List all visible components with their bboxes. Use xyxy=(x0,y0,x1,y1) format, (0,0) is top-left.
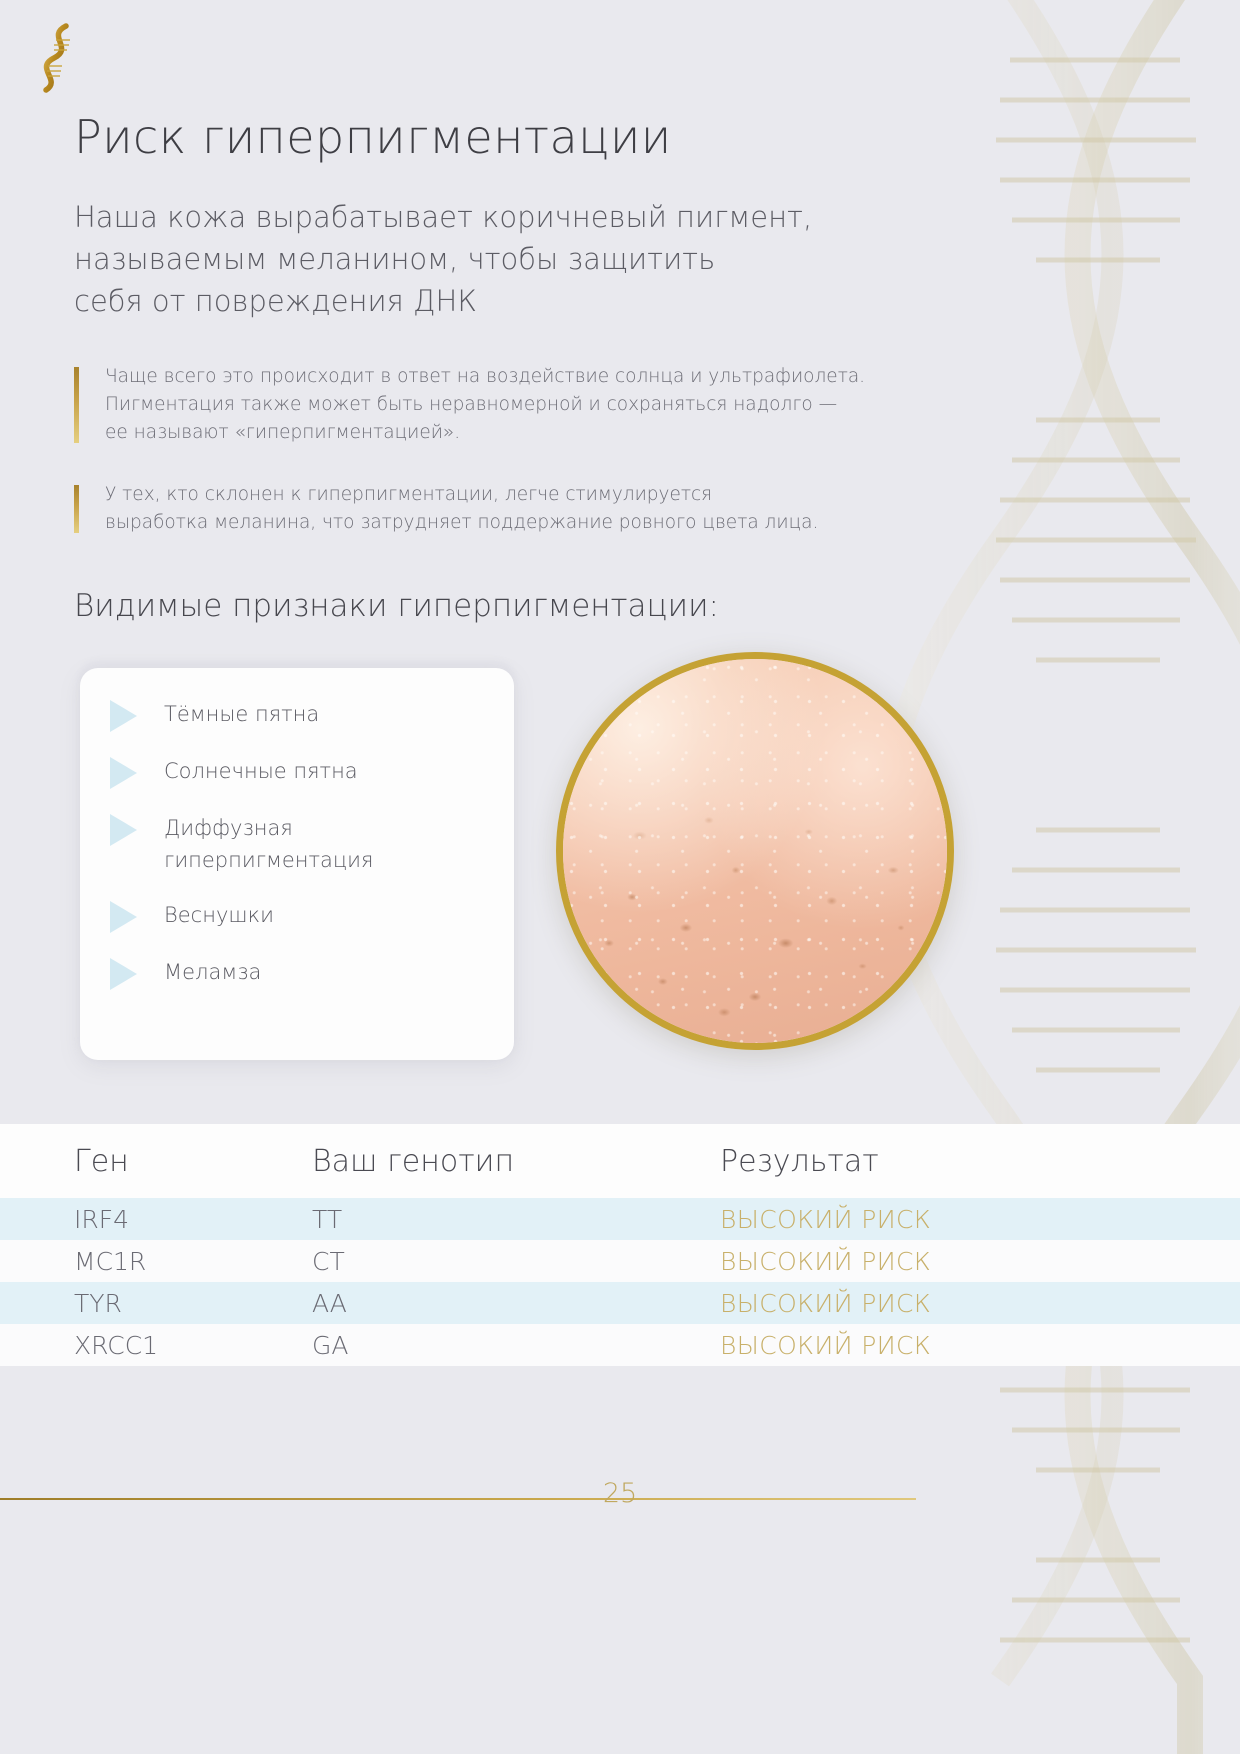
triangle-bullet-icon xyxy=(110,901,137,933)
page-subtitle: Наша кожа вырабатывает коричневый пигмен… xyxy=(74,196,954,322)
quote-1-line-3: ее называют «гиперпигментацией». xyxy=(105,419,865,447)
skin-photo xyxy=(563,659,947,1043)
triangle-bullet-icon xyxy=(110,958,137,990)
subtitle-line-1: Наша кожа вырабатывает коричневый пигмен… xyxy=(74,196,954,238)
cell-result: ВЫСОКИЙ РИСК xyxy=(720,1289,1240,1318)
list-item: Меламза xyxy=(80,956,514,990)
subtitle-line-3: себя от повреждения ДНК xyxy=(74,280,954,322)
subtitle-line-2: называемым меланином, чтобы защитить xyxy=(74,238,954,280)
triangle-bullet-icon xyxy=(110,700,137,732)
column-header-result: Результат xyxy=(720,1144,1240,1179)
column-header-genotype: Ваш генотип xyxy=(312,1144,720,1179)
table-row: XRCC1 GA ВЫСОКИЙ РИСК xyxy=(0,1324,1240,1366)
quote-2-line-2: выработка меланина, что затрудняет подде… xyxy=(105,509,818,537)
quote-block-1: Чаще всего это происходит в ответ на воз… xyxy=(74,363,865,447)
cell-result: ВЫСОКИЙ РИСК xyxy=(720,1331,1240,1360)
sign-label: Веснушки xyxy=(164,899,274,931)
quote-1-line-1: Чаще всего это происходит в ответ на воз… xyxy=(105,363,865,391)
quote-1-line-2: Пигментация также может быть неравномерн… xyxy=(105,391,865,419)
column-header-gene: Ген xyxy=(0,1144,312,1179)
cell-genotype: AA xyxy=(312,1289,720,1318)
cell-genotype: TT xyxy=(312,1205,720,1234)
sign-label: Солнечные пятна xyxy=(164,755,358,787)
cell-result: ВЫСОКИЙ РИСК xyxy=(720,1247,1240,1276)
triangle-bullet-icon xyxy=(110,814,137,846)
table-row: MC1R CT ВЫСОКИЙ РИСК xyxy=(0,1240,1240,1282)
page-title: Риск гиперпигментации xyxy=(74,110,672,164)
cell-gene: MC1R xyxy=(0,1247,312,1276)
list-item: Диффузная гиперпигментация xyxy=(80,812,514,876)
cell-gene: XRCC1 xyxy=(0,1331,312,1360)
list-item: Солнечные пятна xyxy=(80,755,514,789)
skin-photo-circle xyxy=(556,652,954,1050)
cell-result: ВЫСОКИЙ РИСК xyxy=(720,1205,1240,1234)
table-row: IRF4 TT ВЫСОКИЙ РИСК xyxy=(0,1198,1240,1240)
triangle-bullet-icon xyxy=(110,757,137,789)
report-page: Риск гиперпигментации Наша кожа вырабаты… xyxy=(0,0,1240,1754)
quote-2-line-1: У тех, кто склонен к гиперпигментации, л… xyxy=(105,481,818,509)
cell-gene: IRF4 xyxy=(0,1205,312,1234)
dna-helix-logo xyxy=(36,22,84,94)
sign-label: Меламза xyxy=(164,956,261,988)
list-item: Веснушки xyxy=(80,899,514,933)
table-header-row: Ген Ваш генотип Результат xyxy=(0,1124,1240,1198)
sign-label: Тёмные пятна xyxy=(164,698,319,730)
quote-block-2: У тех, кто склонен к гиперпигментации, л… xyxy=(74,481,818,537)
sign-label: Диффузная гиперпигментация xyxy=(164,812,373,876)
table-row: TYR AA ВЫСОКИЙ РИСК xyxy=(0,1282,1240,1324)
list-item: Тёмные пятна xyxy=(80,698,514,732)
page-number: 25 xyxy=(0,1478,1240,1509)
cell-genotype: CT xyxy=(312,1247,720,1276)
signs-section-heading: Видимые признаки гиперпигментации: xyxy=(74,588,719,624)
cell-genotype: GA xyxy=(312,1331,720,1360)
cell-gene: TYR xyxy=(0,1289,312,1318)
genotype-table: Ген Ваш генотип Результат IRF4 TT ВЫСОКИ… xyxy=(0,1124,1240,1366)
signs-card: Тёмные пятна Солнечные пятна Диффузная г… xyxy=(80,668,514,1060)
